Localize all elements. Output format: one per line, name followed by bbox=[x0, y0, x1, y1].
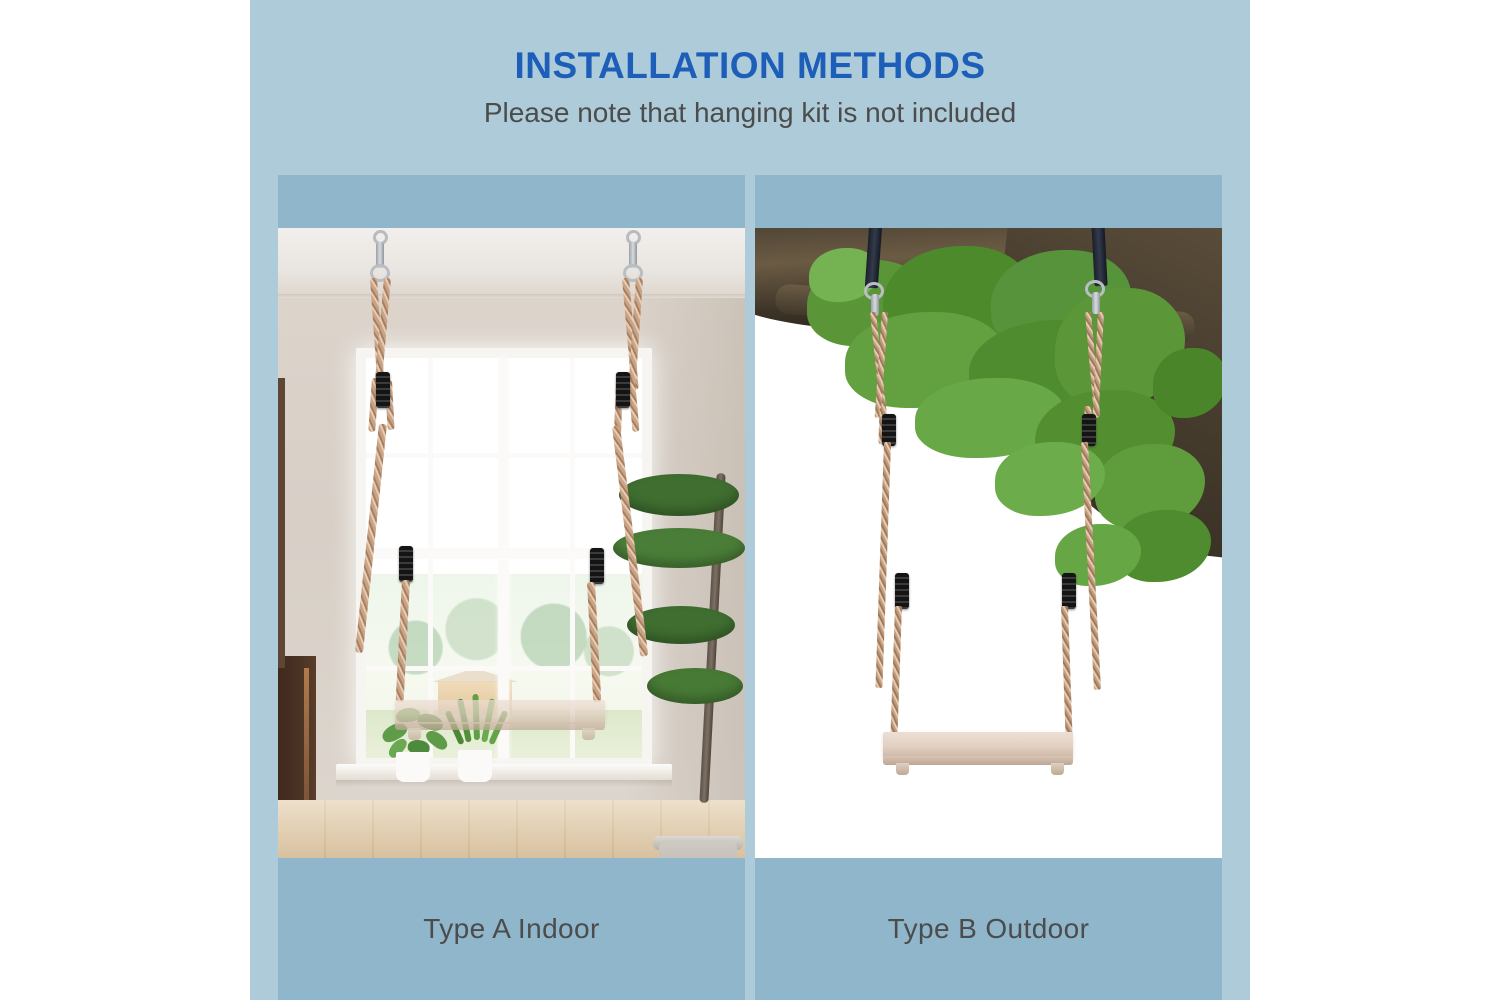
plant-pot-2 bbox=[458, 750, 492, 782]
swing-seat-edge bbox=[883, 756, 1073, 765]
window-muntin-h3 bbox=[366, 666, 498, 671]
rope-adjuster-upper-right bbox=[616, 372, 630, 408]
wooden-swing-seat bbox=[395, 700, 605, 724]
outdoor-scene bbox=[755, 228, 1222, 858]
door-jamb bbox=[278, 378, 285, 668]
bonsai-tier-4 bbox=[647, 668, 743, 704]
panel-type-a-indoor[interactable]: Type A Indoor bbox=[278, 175, 745, 1000]
swing-seat-knob-right bbox=[582, 728, 595, 740]
rope-adjuster-lower-left bbox=[895, 573, 909, 609]
window-muntin-h4 bbox=[509, 666, 642, 671]
carabiner-clip-right bbox=[1092, 292, 1100, 314]
rope-adjuster-lower-right bbox=[590, 548, 604, 584]
outdoor-photo bbox=[755, 228, 1222, 858]
swing-seat-knob-left bbox=[408, 728, 421, 740]
window-sill-shadow bbox=[336, 780, 672, 787]
indoor-scene bbox=[278, 228, 745, 858]
rope-left-to-seat bbox=[890, 606, 902, 736]
swing-seat-edge bbox=[395, 722, 605, 730]
panel-type-b-outdoor[interactable]: Type B Outdoor bbox=[755, 175, 1222, 1000]
page-subtitle: Please note that hanging kit is not incl… bbox=[250, 96, 1250, 130]
bonsai-tier-1 bbox=[619, 474, 739, 516]
swing-seat-knob-left bbox=[896, 763, 909, 775]
header: INSTALLATION METHODS Please note that ha… bbox=[250, 0, 1250, 175]
swing-seat-knob-right bbox=[1051, 763, 1064, 775]
window-sill bbox=[336, 764, 672, 780]
wooden-swing-seat bbox=[883, 732, 1073, 758]
screenshot-root: INSTALLATION METHODS Please note that ha… bbox=[0, 0, 1500, 1000]
rope-adjuster-lower-left bbox=[399, 546, 413, 582]
page-title: INSTALLATION METHODS bbox=[250, 44, 1250, 88]
rope-adjuster-upper-left bbox=[376, 372, 390, 408]
panel-b-caption: Type B Outdoor bbox=[755, 858, 1222, 1000]
rope-left-main bbox=[875, 442, 891, 688]
indoor-photo bbox=[278, 228, 745, 858]
window-muntin-h1 bbox=[366, 453, 498, 458]
rope-right-to-seat bbox=[1061, 606, 1073, 736]
rope-adjuster-lower-right bbox=[1062, 573, 1076, 609]
panel-a-caption: Type A Indoor bbox=[278, 858, 745, 1000]
plant-pot-1 bbox=[396, 752, 430, 782]
ceramic-pot bbox=[659, 840, 737, 858]
foliage-14 bbox=[1153, 348, 1222, 418]
ceiling bbox=[278, 228, 745, 298]
